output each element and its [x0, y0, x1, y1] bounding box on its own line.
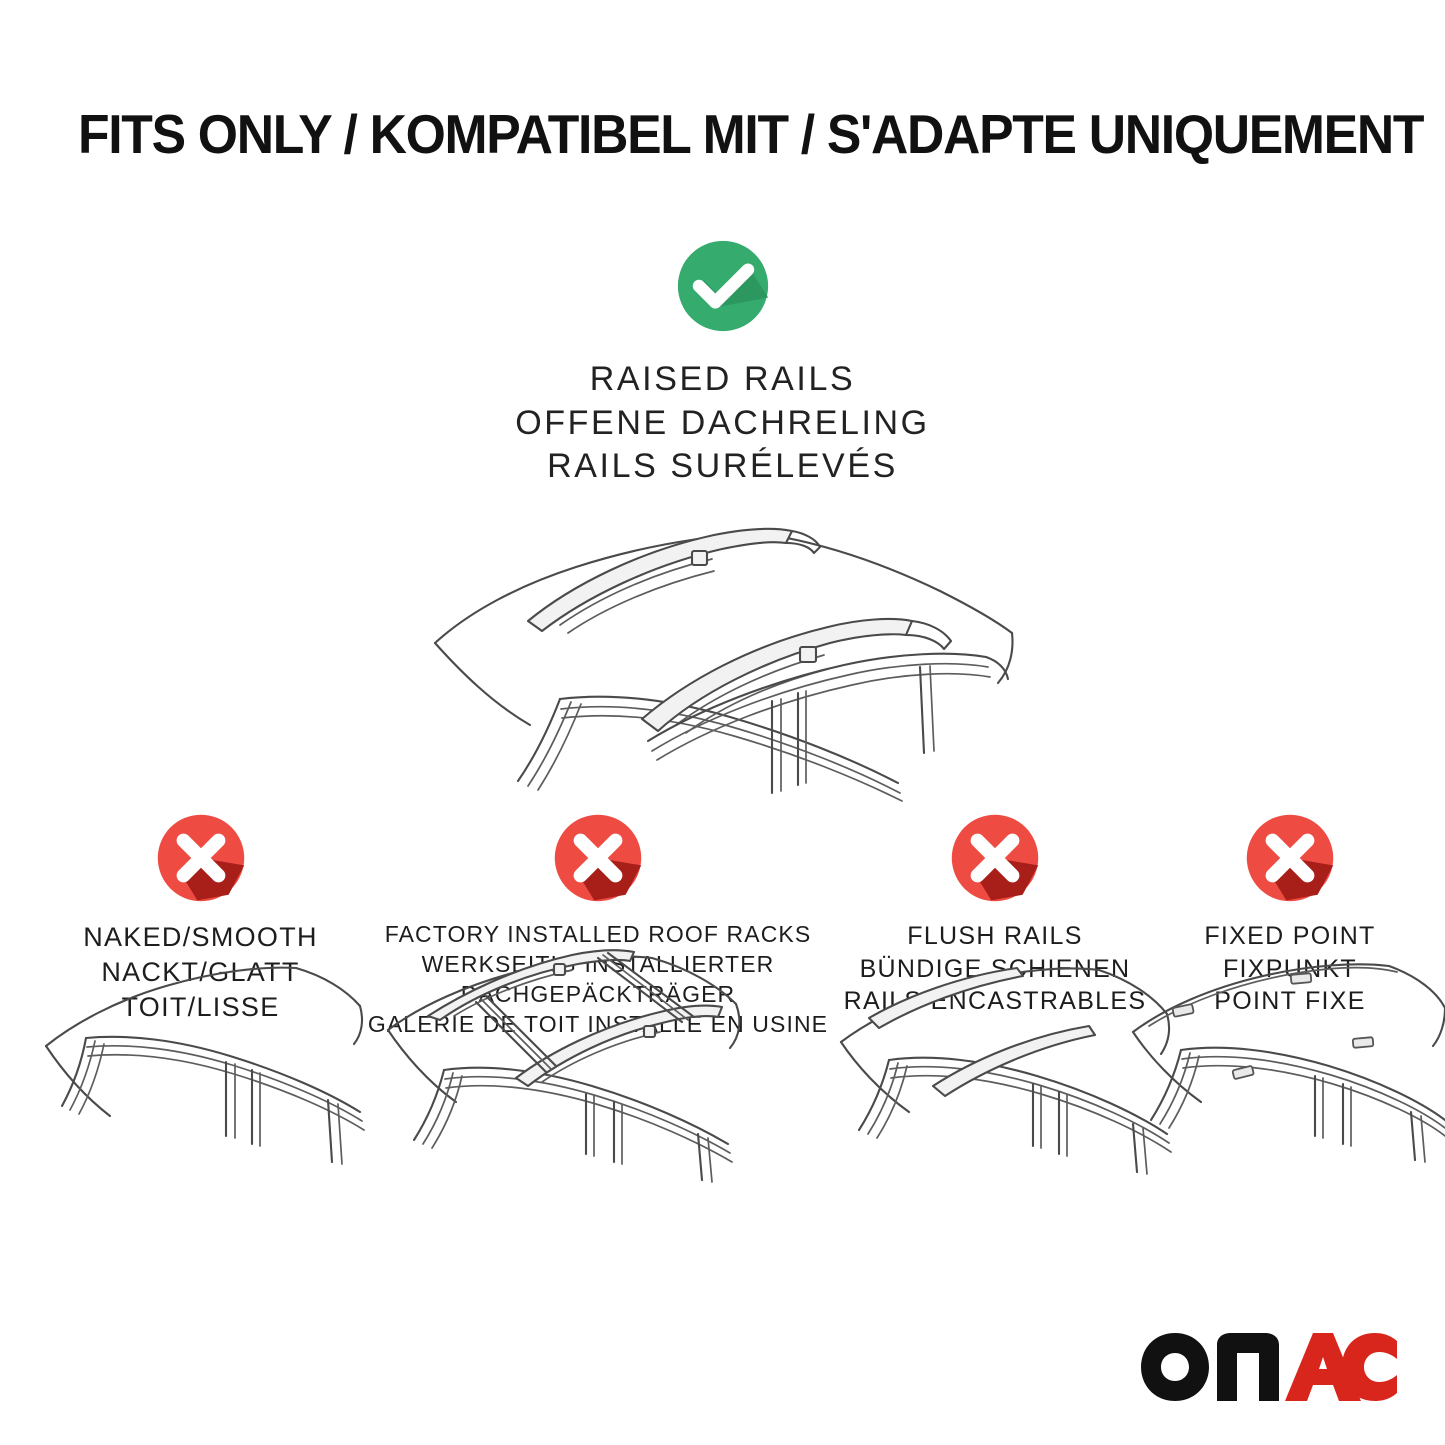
- logo-letter-o: [1141, 1333, 1209, 1401]
- incompatible-section: NAKED/SMOOTH NACKT/GLATT TOIT/LISSE: [0, 812, 1445, 1282]
- compatible-line-en: RAISED RAILS: [0, 358, 1445, 402]
- compatible-line-fr: RAILS SURÉLEVÉS: [0, 445, 1445, 489]
- car-roof-naked-smooth-illustration: [28, 950, 373, 1190]
- x-circle-icon: [1244, 812, 1336, 904]
- logo-letter-m: [1217, 1333, 1279, 1401]
- omac-logo-mark: [1139, 1331, 1399, 1403]
- compatible-caption: RAISED RAILS OFFENE DACHRELING RAILS SUR…: [0, 358, 1445, 489]
- incompatible-item-factory: FACTORY INSTALLED ROOF RACKS WERKSEITIG …: [358, 812, 838, 1040]
- compatible-icon-wrap: [0, 238, 1445, 334]
- fixed-icon-wrap: [1140, 812, 1440, 908]
- naked-icon-wrap: [28, 812, 373, 908]
- car-roof-factory-roof-racks-illustration: [358, 944, 838, 1194]
- incompatible-item-flush: FLUSH RAILS BÜNDIGE SCHIENEN RAILS ENCAS…: [835, 812, 1155, 1018]
- omac-logo: [1139, 1329, 1399, 1403]
- flush-line-en: FLUSH RAILS: [835, 920, 1155, 953]
- compatible-section: RAISED RAILS OFFENE DACHRELING RAILS SUR…: [0, 238, 1445, 489]
- x-circle-icon: [949, 812, 1041, 904]
- car-roof-raised-rails-illustration: [400, 503, 1045, 803]
- incompatible-item-fixed: FIXED POINT FIXPUNKT POINT FIXE: [1140, 812, 1440, 1018]
- fixed-line-en: FIXED POINT: [1140, 920, 1440, 953]
- compatible-line-de: OFFENE DACHRELING: [0, 402, 1445, 446]
- car-roof-fixed-point-illustration: [1115, 950, 1445, 1190]
- x-circle-icon: [552, 812, 644, 904]
- x-circle-icon: [155, 812, 247, 904]
- incompatible-item-naked: NAKED/SMOOTH NACKT/GLATT TOIT/LISSE: [28, 812, 373, 1025]
- flush-icon-wrap: [835, 812, 1155, 908]
- factory-icon-wrap: [358, 812, 838, 908]
- page-title: FITS ONLY / KOMPATIBEL MIT / S'ADAPTE UN…: [78, 106, 1300, 164]
- fitment-infographic: FITS ONLY / KOMPATIBEL MIT / S'ADAPTE UN…: [0, 0, 1445, 1445]
- check-circle-icon: [675, 238, 771, 334]
